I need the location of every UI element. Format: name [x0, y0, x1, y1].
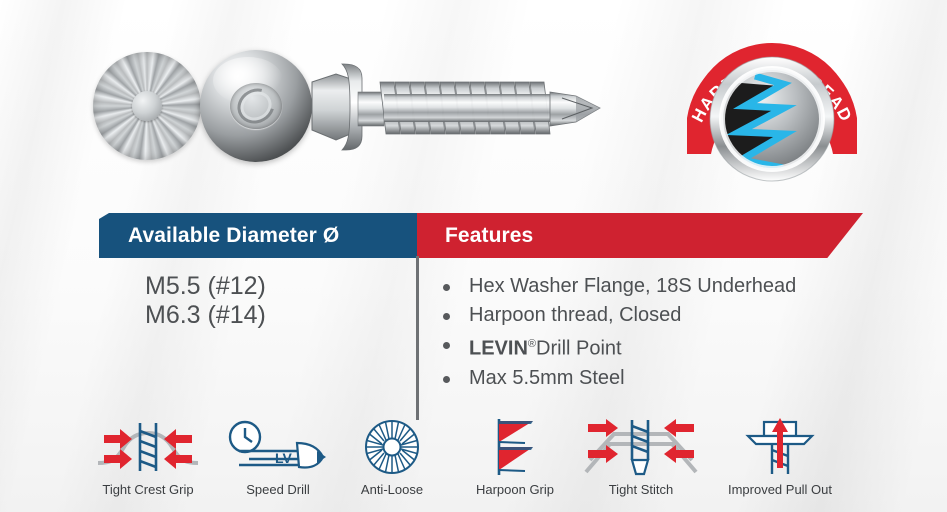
diameter-banner-title: Available Diameter Ø: [128, 224, 339, 248]
features-banner: Features: [417, 213, 863, 258]
feature-item: Max 5.5mm Steel: [437, 364, 867, 393]
crest-grip-icon: [73, 416, 223, 478]
harpoon-thread-badge: HARPOON THREAD: [683, 22, 861, 192]
badge-svg: HARPOON THREAD: [683, 22, 861, 192]
self-drilling-screw-side-view: [300, 52, 630, 172]
hex-head-top-view: [200, 50, 312, 162]
features-banner-title: Features: [445, 224, 533, 248]
feature-item: LEVIN®Drill Point: [437, 330, 867, 364]
speed-drill-badge-text: LV: [275, 450, 293, 466]
registered-mark: ®: [528, 338, 536, 350]
improved-pull-out-icon: [690, 416, 870, 478]
feature-icon-cell: Improved Pull Out: [690, 416, 870, 497]
feature-brand: LEVIN: [469, 338, 528, 360]
column-divider: [416, 256, 419, 420]
feature-text: Max 5.5mm Steel: [469, 367, 625, 389]
feature-text: Hex Washer Flange, 18S Underhead: [469, 275, 796, 297]
feature-item: Harpoon thread, Closed: [437, 301, 867, 330]
diameter-banner: Available Diameter Ø: [99, 213, 417, 258]
product-spec-sheet: HARPOON THREAD Available Diameter Ø F: [0, 0, 947, 512]
section-headers: Available Diameter Ø Features: [0, 213, 947, 258]
logo-swirl: [231, 82, 281, 130]
feature-text: Harpoon thread, Closed: [469, 304, 681, 326]
flange-hub: [132, 91, 162, 121]
feature-icon-cell: Tight Crest Grip: [73, 416, 223, 497]
feature-icon-label: Improved Pull Out: [690, 482, 870, 497]
feature-icon-label: Tight Crest Grip: [73, 482, 223, 497]
screw-svg: [300, 52, 630, 172]
features-bullet-list: Hex Washer Flange, 18S Underhead Harpoon…: [437, 272, 867, 393]
diameter-value: M6.3 (#14): [145, 301, 405, 330]
head-logo-stamp: [230, 83, 282, 129]
diameter-value: M5.5 (#12): [145, 272, 405, 301]
serrated-flange-underside-view: [93, 52, 201, 160]
diameter-values: M5.5 (#12) M6.3 (#14): [145, 272, 405, 330]
feature-icon-row: Tight Crest Grip LV Speed Drill: [0, 416, 947, 512]
feature-text: Drill Point: [536, 338, 622, 360]
feature-item: Hex Washer Flange, 18S Underhead: [437, 272, 867, 301]
